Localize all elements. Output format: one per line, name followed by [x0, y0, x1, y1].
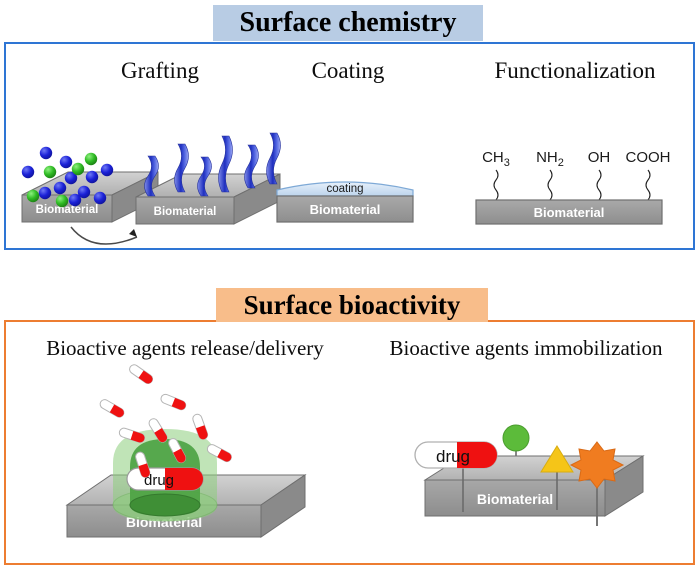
grafting-label: Grafting: [60, 58, 260, 84]
coating-label: Coating: [258, 58, 438, 84]
functionalization-label: Functionalization: [450, 58, 699, 84]
immobilized-drug-label: drug: [436, 447, 470, 466]
release-drug-capsule: drug: [127, 468, 203, 490]
group-label-oh: OH: [588, 149, 611, 166]
functional-group-tethers: [494, 170, 650, 200]
surface-bioactivity-title: Surface bioactivity: [216, 288, 488, 322]
coating-layer-label: coating: [326, 183, 363, 195]
green-circle-agent: [503, 425, 529, 451]
group-label-cooh: COOH: [626, 149, 671, 166]
grafting-left-slab-label: Biomaterial: [36, 204, 99, 216]
surface-chemistry-title: Surface chemistry: [213, 5, 483, 41]
coating-substrate-label: Biomaterial: [310, 202, 381, 217]
functional-group-labels: CH3 NH2 OH COOH: [482, 149, 670, 169]
figure-root: Surface chemistry Grafting Coating Funct…: [0, 0, 699, 572]
immobilization-substrate-label: Biomaterial: [477, 491, 553, 507]
functionalization-substrate-label: Biomaterial: [534, 205, 605, 220]
group-label-ch3: CH3: [482, 149, 510, 169]
immobilized-drug-capsule: drug: [415, 442, 497, 468]
grafting-right-slab-label: Biomaterial: [154, 206, 217, 218]
immobilization-illustration: Biomaterial drug: [385, 420, 685, 560]
group-label-nh2: NH2: [536, 149, 564, 169]
grafting-process-arrow: [71, 227, 137, 244]
orange-star-agent: [571, 442, 623, 488]
coating-illustration: coating Biomaterial: [255, 150, 445, 240]
functionalization-illustration: CH3 NH2 OH COOH Biomaterial: [462, 140, 687, 240]
release-illustration: Biomaterial drug: [55, 355, 365, 555]
bioactive-immobilization-label: Bioactive agents immobilization: [356, 336, 696, 361]
